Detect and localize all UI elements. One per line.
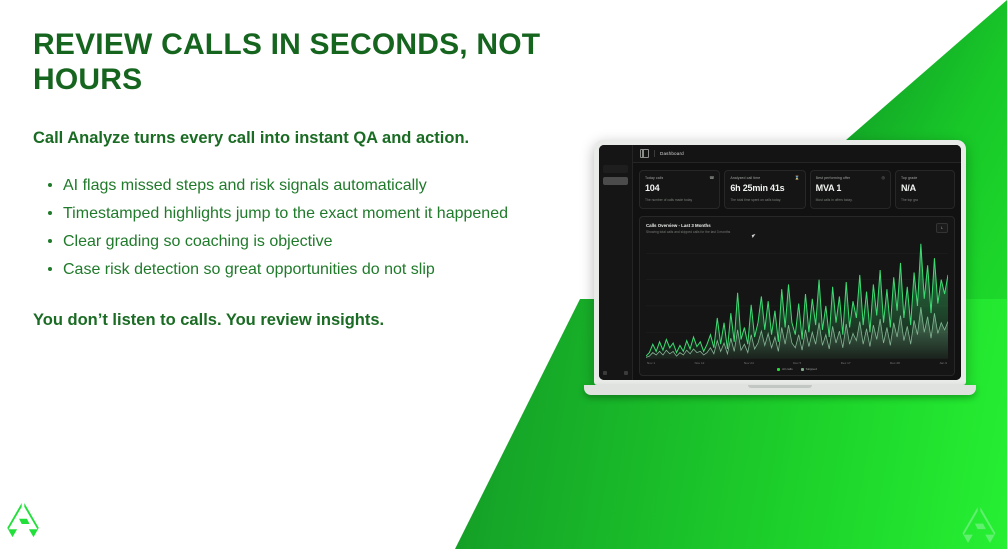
sidebar-footer [603, 371, 628, 375]
closing-statement: You don’t listen to calls. You review in… [33, 311, 573, 330]
kpi-value: MVA 1 [816, 183, 885, 193]
phone-icon: ☎ [709, 176, 714, 180]
list-item: Clear grading so coaching is objective [63, 229, 543, 255]
feature-bullet-list: AI flags missed steps and risk signals a… [35, 173, 573, 283]
kpi-card-today-calls[interactable]: Today calls ☎ 104 The number of calls ma… [639, 170, 720, 209]
chart-svg [646, 239, 948, 359]
sidebar-toggle-icon[interactable] [640, 149, 649, 158]
kpi-card-row: Today calls ☎ 104 The number of calls ma… [633, 163, 961, 214]
laptop-lid: Dashboard Today calls ☎ 104 The number o… [594, 140, 966, 385]
chart-series-group [646, 244, 948, 359]
kpi-label: Best performing offer [816, 176, 851, 180]
breadcrumb: Dashboard [660, 151, 684, 156]
kpi-value: N/A [901, 183, 949, 193]
kpi-label: Today calls [645, 176, 663, 180]
text-column: REVIEW CALLS IN SECONDS, NOT HOURS Call … [33, 28, 573, 330]
hourglass-icon: ⌛ [795, 176, 800, 180]
list-item: Timestamped highlights jump to the exact… [63, 201, 543, 227]
calls-overview-card: Calls Overview - Last 3 Months Showing t… [639, 216, 955, 376]
legend-item-all-calls[interactable]: All calls [777, 367, 793, 371]
kpi-value: 6h 25min 41s [730, 183, 799, 193]
kpi-value: 104 [645, 183, 714, 193]
kpi-label: Analyzed call time [730, 176, 760, 180]
brand-logo-bottom-left [2, 499, 44, 541]
kpi-description: Most calls in offers today. [816, 198, 885, 202]
page-title: REVIEW CALLS IN SECONDS, NOT HOURS [33, 28, 573, 97]
kpi-description: The total time spent on calls today. [730, 198, 799, 202]
sidebar-collapse-icon[interactable] [603, 371, 607, 375]
chart-title: Calls Overview - Last 3 Months [646, 223, 730, 228]
slide-root: REVIEW CALLS IN SECONDS, NOT HOURS Call … [0, 0, 1007, 549]
kpi-card-best-performing-offer[interactable]: Best performing offer ◎ MVA 1 Most calls… [810, 170, 891, 209]
legend-label: All calls [782, 367, 793, 371]
kpi-card-top-grade[interactable]: Top grade N/A The top gra [895, 170, 955, 209]
legend-swatch [777, 368, 780, 371]
legend-label: Skipped [806, 367, 817, 371]
chart-legend: All calls Skipped [646, 365, 948, 372]
chart-range-button[interactable]: L [936, 223, 948, 233]
laptop-mockup: Dashboard Today calls ☎ 104 The number o… [594, 140, 966, 395]
dashboard-app: Dashboard Today calls ☎ 104 The number o… [599, 145, 961, 380]
chart-subtitle: Showing total calls and skipped calls fo… [646, 230, 730, 234]
laptop-base [584, 385, 976, 395]
sidebar-user-icon[interactable] [624, 371, 628, 375]
kpi-description: The top gra [901, 198, 949, 202]
sidebar-item-1-active[interactable] [603, 177, 628, 185]
legend-item-skipped[interactable]: Skipped [801, 367, 817, 371]
list-item: Case risk detection so great opportuniti… [63, 257, 543, 283]
list-item: AI flags missed steps and risk signals a… [63, 173, 543, 199]
lede-paragraph: Call Analyze turns every call into insta… [33, 127, 493, 151]
mouse-cursor-icon [752, 233, 760, 238]
dashboard-topbar: Dashboard [633, 145, 961, 163]
sidebar-item-0[interactable] [603, 165, 628, 173]
kpi-label: Top grade [901, 176, 917, 180]
calls-area-chart [646, 239, 948, 359]
target-icon: ◎ [881, 176, 885, 180]
dashboard-sidebar[interactable] [599, 145, 633, 380]
kpi-card-analyzed-call-time[interactable]: Analyzed call time ⌛ 6h 25min 41s The to… [724, 170, 805, 209]
legend-swatch [801, 368, 804, 371]
kpi-description: The number of calls made today [645, 198, 714, 202]
card-header: Calls Overview - Last 3 Months Showing t… [646, 223, 948, 234]
dashboard-main: Dashboard Today calls ☎ 104 The number o… [633, 145, 961, 380]
laptop-screen: Dashboard Today calls ☎ 104 The number o… [599, 145, 961, 380]
topbar-divider [654, 150, 655, 157]
brand-logo-bottom-right [957, 503, 1001, 547]
